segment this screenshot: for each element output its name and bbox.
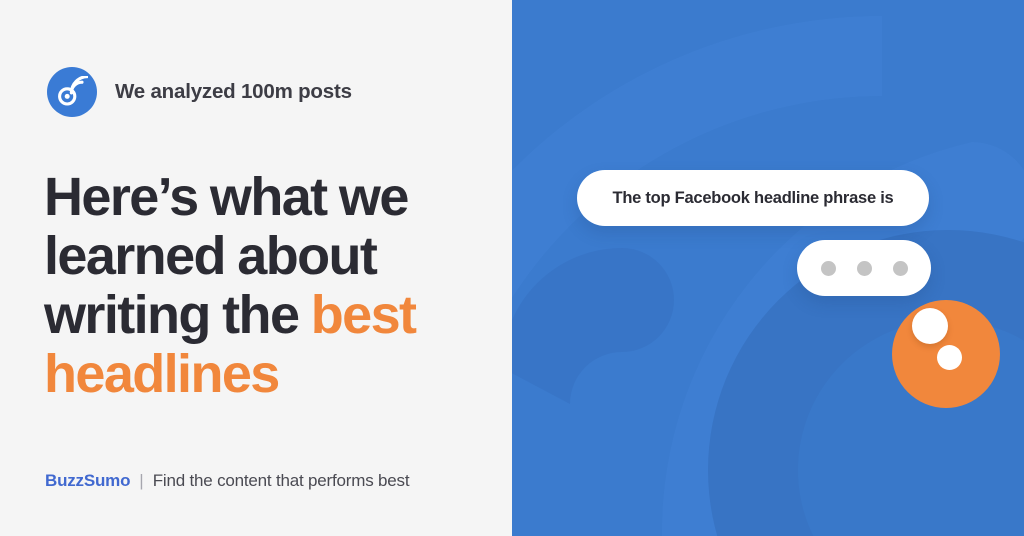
typing-dot-2: [857, 261, 872, 276]
footer-brand-name[interactable]: BuzzSumo: [45, 471, 130, 491]
chat-bubble-question-text: The top Facebook headline phrase is: [613, 189, 894, 208]
sonar-background-pattern: [512, 0, 1024, 536]
chat-bubble-question: The top Facebook headline phrase is: [577, 170, 929, 226]
orange-sonar-mark: [892, 300, 1000, 408]
headline-line-2: learned about: [44, 226, 376, 286]
promo-graphic-canvas: We analyzed 100m posts Here’s what we le…: [0, 0, 1024, 536]
headline-line-3-plain: writing the: [44, 285, 311, 345]
footer-tagline: Find the content that performs best: [153, 471, 410, 491]
typing-dot-1: [821, 261, 836, 276]
right-illustration-panel: The top Facebook headline phrase is: [512, 0, 1024, 536]
brand-header: We analyzed 100m posts: [47, 67, 352, 117]
chat-bubble-typing-indicator: [797, 240, 931, 296]
brand-tagline: We analyzed 100m posts: [115, 80, 352, 104]
orange-mark-dot-small: [937, 345, 962, 370]
page-title: Here’s what we learned about writing the…: [44, 168, 474, 404]
orange-mark-dot-large: [912, 308, 948, 344]
headline-accent-best: best: [311, 285, 416, 345]
buzzsumo-sonar-icon: [47, 67, 97, 117]
footer-separator: |: [130, 471, 152, 491]
footer-attribution: BuzzSumo | Find the content that perform…: [45, 471, 409, 491]
headline-accent-headlines: headlines: [44, 344, 279, 404]
typing-dot-3: [893, 261, 908, 276]
headline-line-1: Here’s what we: [44, 167, 408, 227]
left-content-panel: We analyzed 100m posts Here’s what we le…: [0, 0, 512, 536]
